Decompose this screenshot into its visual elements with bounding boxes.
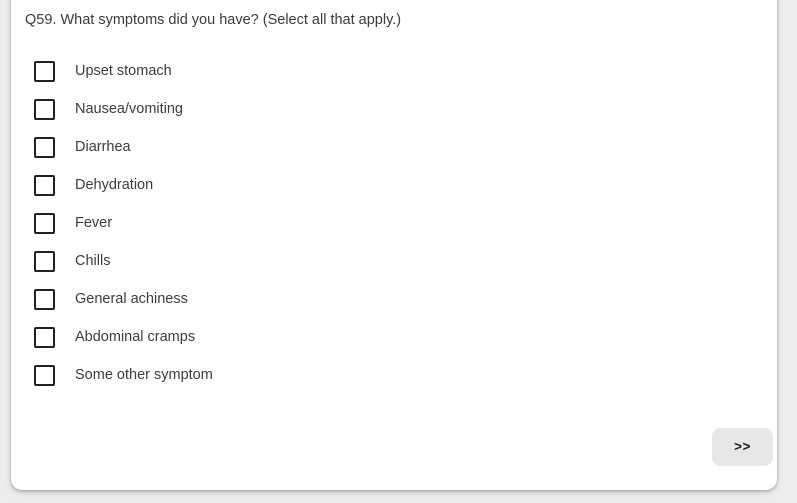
survey-card: Q59. What symptoms did you have? (Select… <box>11 0 777 490</box>
checkbox-options-list: Upset stomach Nausea/vomiting Diarrhea D… <box>34 52 534 394</box>
option-row-diarrhea[interactable]: Diarrhea <box>34 128 534 166</box>
checkbox-nausea-vomiting[interactable] <box>34 99 55 120</box>
option-row-general-achiness[interactable]: General achiness <box>34 280 534 318</box>
checkbox-general-achiness[interactable] <box>34 289 55 310</box>
option-label-upset-stomach[interactable]: Upset stomach <box>75 63 172 80</box>
option-row-dehydration[interactable]: Dehydration <box>34 166 534 204</box>
option-row-fever[interactable]: Fever <box>34 204 534 242</box>
option-label-some-other-symptom[interactable]: Some other symptom <box>75 367 213 384</box>
checkbox-abdominal-cramps[interactable] <box>34 327 55 348</box>
checkbox-diarrhea[interactable] <box>34 137 55 158</box>
option-row-abdominal-cramps[interactable]: Abdominal cramps <box>34 318 534 356</box>
checkbox-some-other-symptom[interactable] <box>34 365 55 386</box>
option-label-fever[interactable]: Fever <box>75 215 112 232</box>
option-label-diarrhea[interactable]: Diarrhea <box>75 139 131 156</box>
option-row-upset-stomach[interactable]: Upset stomach <box>34 52 534 90</box>
checkbox-chills[interactable] <box>34 251 55 272</box>
option-label-dehydration[interactable]: Dehydration <box>75 177 153 194</box>
option-row-some-other-symptom[interactable]: Some other symptom <box>34 356 534 394</box>
checkbox-fever[interactable] <box>34 213 55 234</box>
option-label-abdominal-cramps[interactable]: Abdominal cramps <box>75 329 195 346</box>
option-label-general-achiness[interactable]: General achiness <box>75 291 188 308</box>
option-row-nausea-vomiting[interactable]: Nausea/vomiting <box>34 90 534 128</box>
checkbox-upset-stomach[interactable] <box>34 61 55 82</box>
option-row-chills[interactable]: Chills <box>34 242 534 280</box>
checkbox-dehydration[interactable] <box>34 175 55 196</box>
question-prompt: Q59. What symptoms did you have? (Select… <box>25 11 401 30</box>
option-label-chills[interactable]: Chills <box>75 253 110 270</box>
next-page-button[interactable]: >> <box>712 428 773 466</box>
survey-card-content: Q59. What symptoms did you have? (Select… <box>11 0 777 490</box>
option-label-nausea-vomiting[interactable]: Nausea/vomiting <box>75 101 183 118</box>
